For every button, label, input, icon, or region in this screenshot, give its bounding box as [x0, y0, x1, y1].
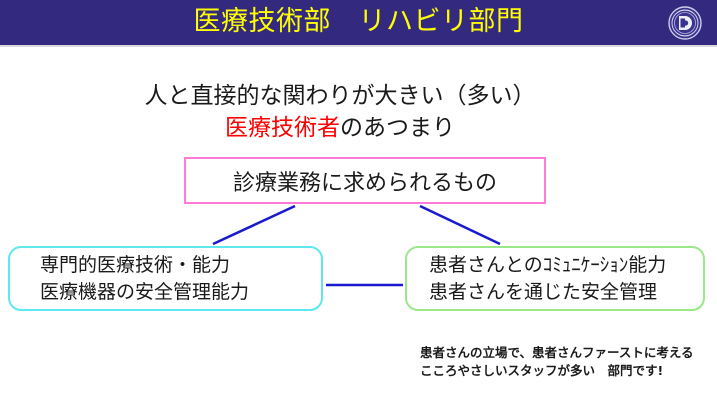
right-skills-line-2: 患者さんを通じた安全管理 [429, 279, 657, 306]
intro-emphasis: 医療技術者 [225, 115, 340, 141]
right-skills-box: 患者さんとのｺﾐｭﾆｹｰｼｮﾝ能力 患者さんを通じた安全管理 [405, 246, 705, 311]
intro-line-2: 医療技術者のあつまり [0, 108, 680, 142]
center-concept-label: 診療業務に求められるもの [233, 165, 497, 197]
intro-line-2-rest: のあつまり [340, 115, 455, 141]
left-skills-line-2: 医療機器の安全管理能力 [40, 279, 249, 306]
footer-note-line-2: こころやさしいスタッフが多い 部門です! [420, 362, 710, 380]
right-skills-line-1: 患者さんとのｺﾐｭﾆｹｰｼｮﾝ能力 [429, 252, 666, 279]
slide-canvas: 医療技術部 リハビリ部門 人と直接的な関わりが大きい（多い） 医療技術者のあつま… [0, 0, 717, 400]
page-title: 医療技術部 リハビリ部門 [0, 0, 717, 45]
left-skills-line-1: 専門的医療技術・能力 [40, 252, 230, 279]
header-divider [0, 45, 717, 47]
hospital-seal-logo [668, 6, 702, 40]
footer-note: 患者さんの立場で、患者さんファーストに考える こころやさしいスタッフが多い 部門… [420, 344, 710, 380]
connector-center-to-right [420, 206, 500, 244]
intro-line-1: 人と直接的な関わりが大きい（多い） [0, 76, 680, 110]
center-concept-box: 診療業務に求められるもの [184, 157, 546, 204]
connector-center-to-left [213, 206, 295, 244]
left-skills-box: 専門的医療技術・能力 医療機器の安全管理能力 [8, 246, 323, 311]
footer-note-line-1: 患者さんの立場で、患者さんファーストに考える [420, 344, 710, 362]
